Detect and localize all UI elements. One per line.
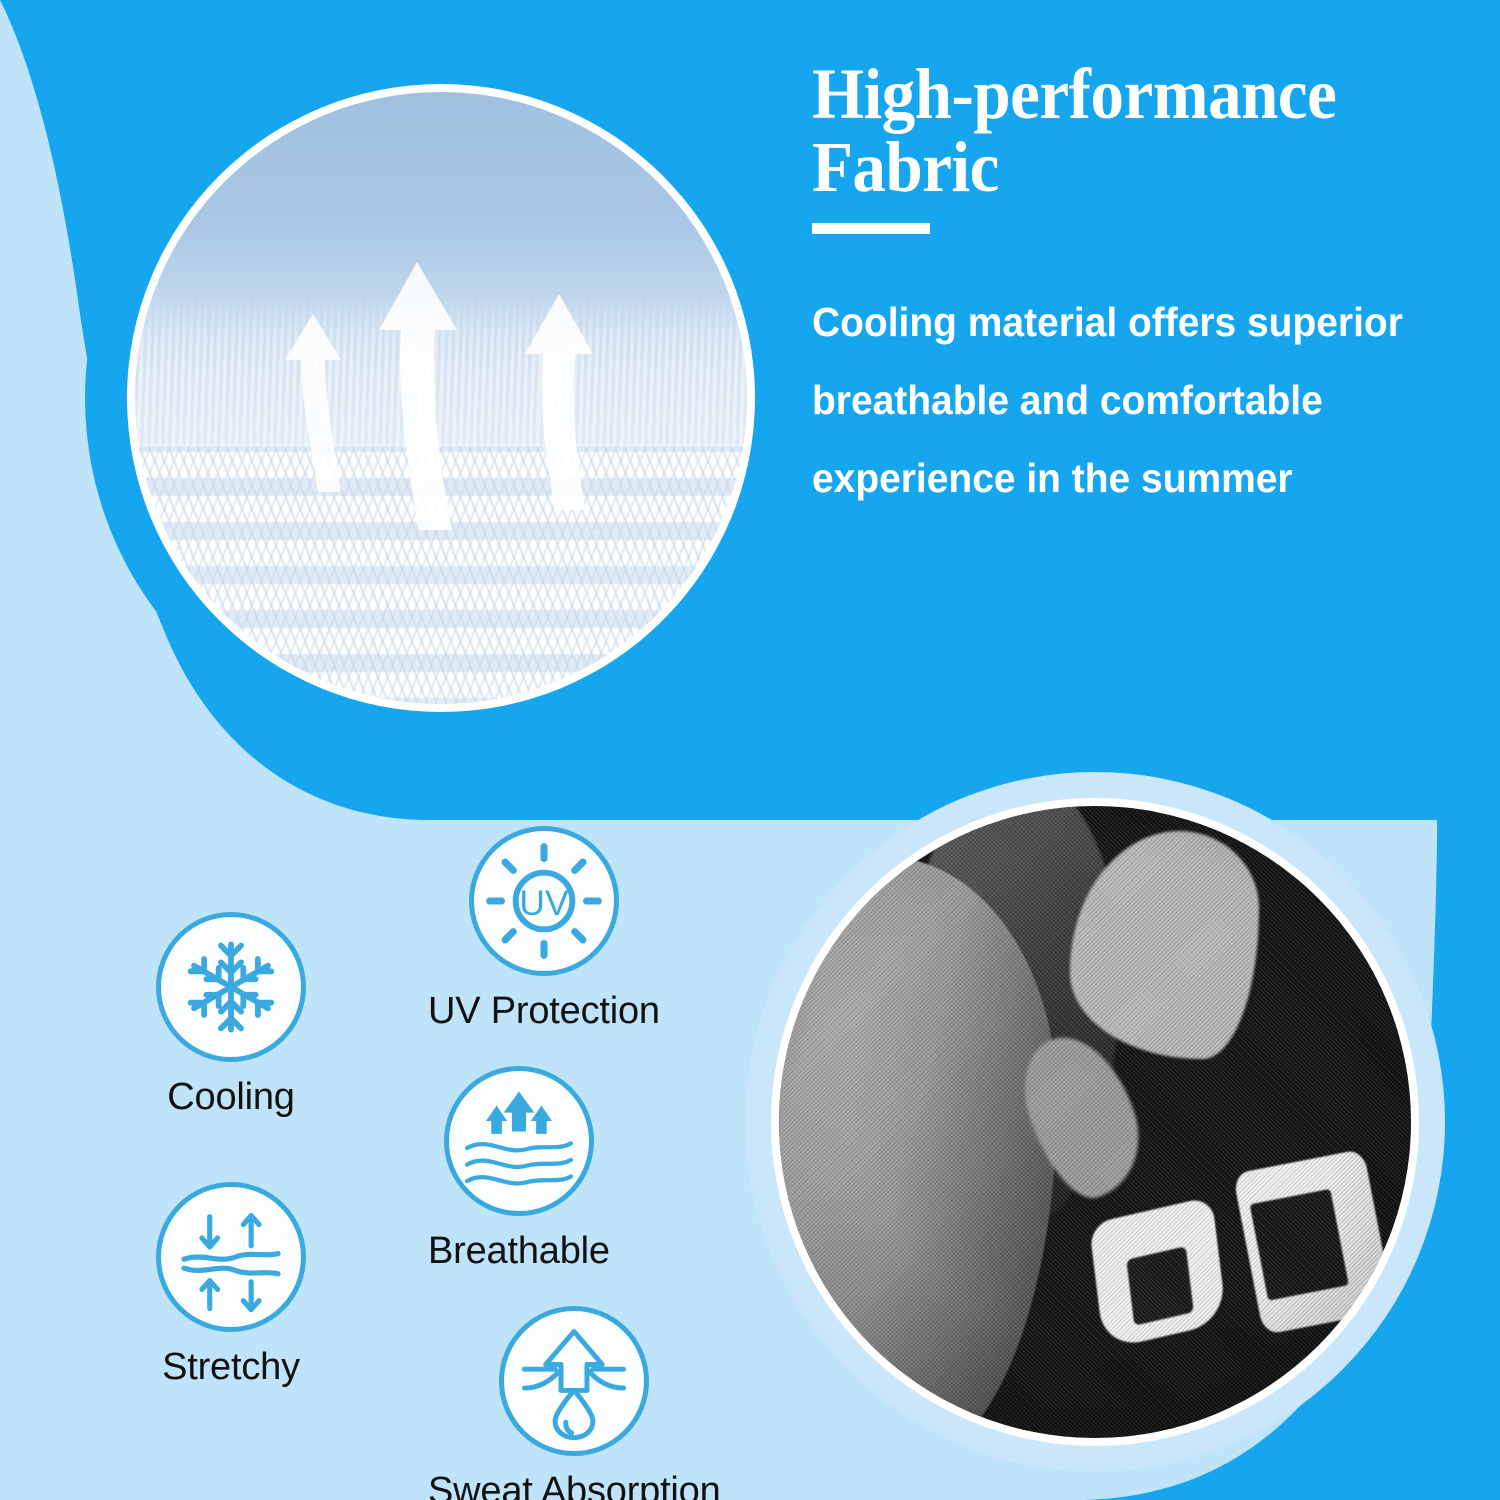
feature-label: Cooling: [167, 1076, 294, 1119]
camo-fabric-photo: [779, 806, 1411, 1438]
feature-badge: [499, 1306, 649, 1456]
page-title: High-performance Fabric: [812, 58, 1426, 205]
uv-sun-icon: UV: [485, 842, 603, 960]
snowflake-icon: [175, 931, 287, 1043]
feature-stretchy[interactable]: Stretchy: [156, 1182, 306, 1389]
photo-vignette: [779, 806, 1411, 1438]
headline-body-text: Cooling material offers superior breatha…: [812, 284, 1420, 518]
feature-uv-protection[interactable]: UV UV Protection: [428, 826, 660, 1033]
svg-text:UV: UV: [519, 884, 569, 923]
title-line-2: Fabric: [812, 127, 999, 207]
feature-label: Sweat Absorption: [428, 1470, 721, 1500]
infographic-canvas: High-performance Fabric Cooling material…: [0, 0, 1500, 1500]
feature-badge: [444, 1066, 594, 1216]
title-underline-rule: [812, 223, 930, 234]
feature-label: Breathable: [428, 1230, 610, 1273]
camo-texture: [779, 806, 1411, 1438]
stretch-arrows-icon: [175, 1201, 287, 1313]
feature-cooling[interactable]: Cooling: [156, 912, 306, 1119]
feature-badge: [156, 1182, 306, 1332]
airflow-waves-icon: [460, 1082, 578, 1200]
hero-image-cooling-fabric: [85, 42, 797, 754]
hero-image-camo-fabric: [745, 772, 1445, 1472]
sweat-droplet-icon: [515, 1322, 633, 1440]
title-line-1: High-performance: [812, 54, 1336, 134]
airflow-arrows-group: [135, 92, 747, 704]
feature-label: Stretchy: [162, 1346, 300, 1389]
cooling-fabric-photo: [135, 92, 747, 704]
headline-block: High-performance Fabric Cooling material…: [812, 58, 1472, 559]
feature-sweat-absorption[interactable]: Sweat Absorption: [428, 1306, 721, 1500]
feature-badge: [156, 912, 306, 1062]
feature-label: UV Protection: [428, 990, 660, 1033]
feature-badge: UV: [469, 826, 619, 976]
feature-breathable[interactable]: Breathable: [428, 1066, 610, 1273]
